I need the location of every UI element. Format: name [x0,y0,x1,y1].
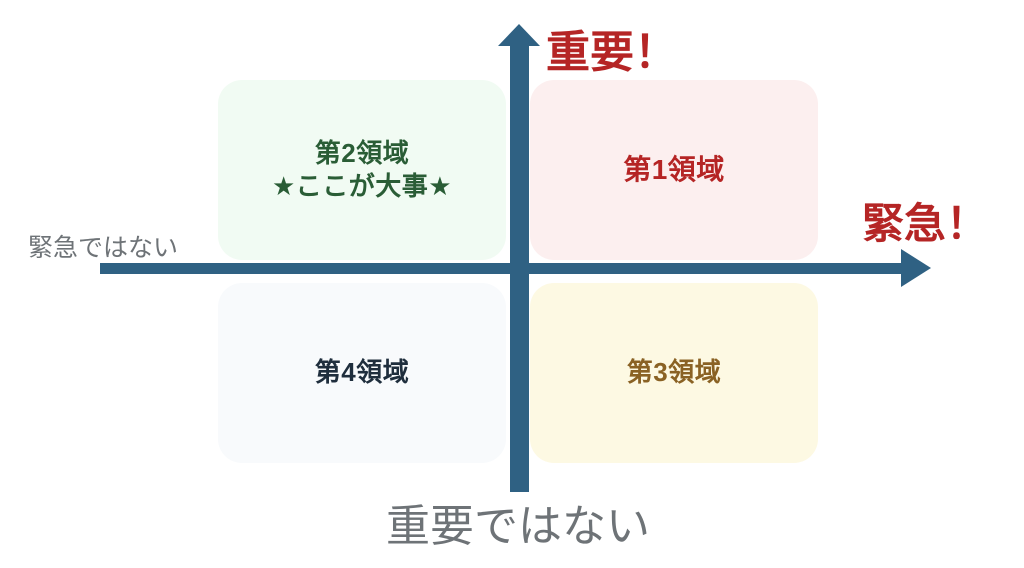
horizontal-axis-line [100,263,905,274]
matrix-diagram-canvas: 第2領域 ★ここが大事★ 第1領域 第4領域 第3領域 重要！ 緊急！ 緊急では… [0,0,1024,568]
quadrant-1-label-line1: 第1領域 [623,152,725,188]
axis-label-important: 重要！ [546,16,678,80]
axis-label-not-urgent: 緊急ではない [28,228,178,264]
quadrant-2-label-line2: ★ここが大事★ [272,170,452,203]
quadrant-4-text: 第4領域 [315,356,409,389]
axis-label-not-important: 重要ではない [386,490,650,554]
quadrant-3-box: 第3領域 [530,283,818,463]
quadrant-1-text: 第1領域 [623,152,725,188]
quadrant-1-box: 第1領域 [530,80,818,260]
quadrant-2-box: 第2領域 ★ここが大事★ [218,80,506,260]
axis-label-urgent: 緊急！ [862,190,988,251]
axis-right-arrow-icon [901,249,931,287]
quadrant-2-text: 第2領域 ★ここが大事★ [272,137,452,204]
quadrant-3-label-line1: 第3領域 [627,356,721,389]
quadrant-2-label-line1: 第2領域 [272,137,452,170]
quadrant-4-label-line1: 第4領域 [315,356,409,389]
quadrant-3-text: 第3領域 [627,356,721,389]
quadrant-4-box: 第4領域 [218,283,506,463]
